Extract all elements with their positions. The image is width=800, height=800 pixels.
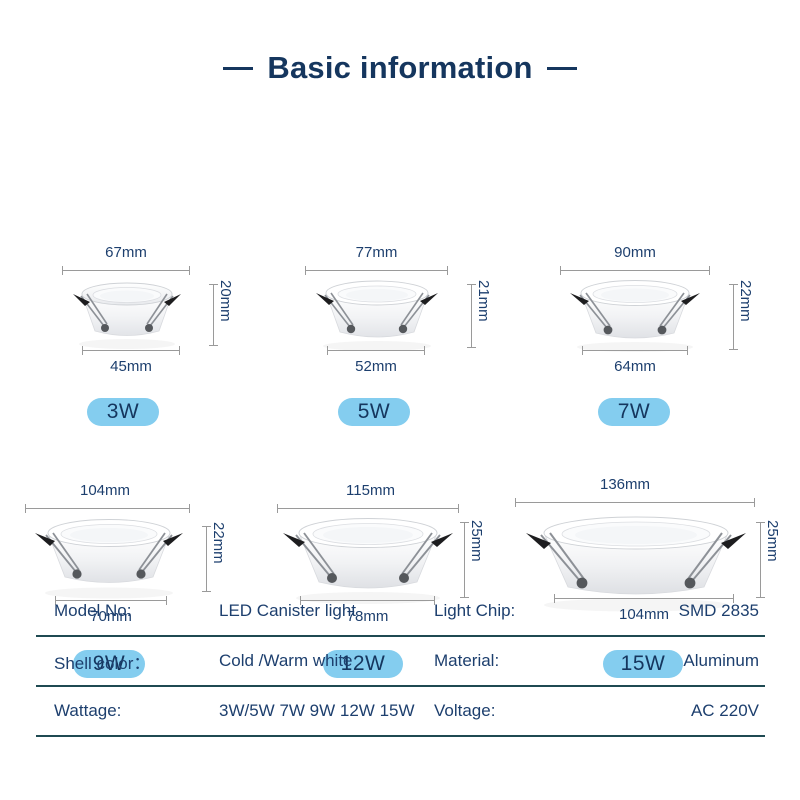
- spec-value-material: Aluminum: [619, 636, 765, 686]
- product-cell-7w: 90mm: [520, 112, 800, 332]
- height-dimension-label-7w: 22mm: [737, 280, 754, 322]
- top-dimension-line-3w: [62, 270, 190, 271]
- top-dimension-line-9w: [25, 508, 190, 509]
- title-rule-left: [223, 67, 253, 70]
- height-dimension-label-9w: 22mm: [210, 522, 227, 564]
- spec-key-model-no: Model No:: [36, 586, 219, 636]
- title-rule-right: [547, 67, 577, 70]
- product-row-2: 104mm: [0, 354, 800, 584]
- height-dimension-line-5w: [471, 284, 472, 348]
- table-row: Wattage: 3W/5W 7W 9W 12W 15W Voltage: AC…: [36, 686, 765, 736]
- top-dimension-label-5w: 77mm: [305, 244, 448, 261]
- spec-value-shell-color: Cold /Warm white: [219, 636, 434, 686]
- top-dimension-line-12w: [277, 508, 459, 509]
- bottom-dimension-line-5w: [327, 350, 425, 351]
- spec-value-model-no: LED Canister light: [219, 586, 434, 636]
- page-header: Basic information: [0, 44, 800, 92]
- lamp-illustration-5w: [302, 276, 452, 352]
- product-cell-15w: 136mm: [500, 354, 800, 584]
- lamp-illustration-3w: [60, 278, 194, 350]
- top-dimension-label-3w: 67mm: [62, 244, 190, 261]
- product-cell-9w: 104mm: [0, 354, 255, 584]
- height-dimension-label-5w: 21mm: [475, 280, 492, 322]
- height-dimension-label-12w: 25mm: [468, 520, 485, 562]
- top-dimension-label-15w: 136mm: [525, 476, 725, 493]
- specification-table: Model No: LED Canister light Light Chip:…: [36, 586, 765, 737]
- bottom-dimension-line-3w: [82, 350, 180, 351]
- height-dimension-line-7w: [733, 284, 734, 350]
- spec-key-light-chip: Light Chip:: [434, 586, 619, 636]
- height-dimension-label-15w: 25mm: [764, 520, 781, 562]
- product-cell-3w: 67mm: [0, 112, 260, 332]
- bottom-dimension-line-7w: [582, 350, 688, 351]
- spec-key-voltage: Voltage:: [434, 686, 619, 736]
- spec-value-light-chip: SMD 2835: [619, 586, 765, 636]
- height-dimension-label-3w: 20mm: [217, 280, 234, 322]
- table-row: Model No: LED Canister light Light Chip:…: [36, 586, 765, 636]
- spec-value-voltage: AC 220V: [619, 686, 765, 736]
- top-dimension-label-9w: 104mm: [20, 482, 190, 499]
- top-dimension-line-15w: [515, 502, 755, 503]
- top-dimension-label-7w: 90mm: [560, 244, 710, 261]
- spec-key-shell-color: Shell color：: [36, 636, 219, 686]
- spec-key-wattage: Wattage:: [36, 686, 219, 736]
- top-dimension-line-5w: [305, 270, 448, 271]
- height-dimension-line-9w: [206, 526, 207, 592]
- top-dimension-label-12w: 115mm: [283, 482, 458, 499]
- spec-value-wattage: 3W/5W 7W 9W 12W 15W: [219, 686, 434, 736]
- product-row-1: 67mm: [0, 112, 800, 332]
- spec-key-material: Material:: [434, 636, 619, 686]
- table-row: Shell color： Cold /Warm white Material: …: [36, 636, 765, 686]
- height-dimension-line-3w: [213, 284, 214, 346]
- product-grid: 67mm: [0, 112, 800, 584]
- top-dimension-line-7w: [560, 270, 710, 271]
- product-cell-5w: 77mm: [260, 112, 520, 332]
- page-title: Basic information: [267, 50, 532, 86]
- lamp-illustration-7w: [556, 275, 714, 353]
- product-cell-12w: 115mm: [255, 354, 500, 584]
